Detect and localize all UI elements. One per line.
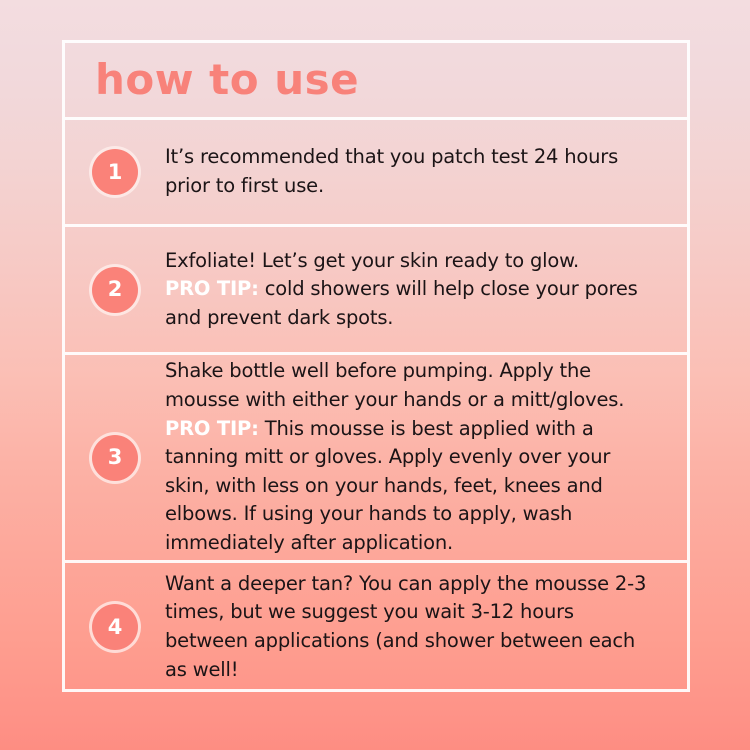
step-line: It’s recommended that you patch test 24 … <box>165 143 657 200</box>
step-number-1: 1 <box>108 162 123 183</box>
step-number-badge-wrap-1: 1 <box>65 149 165 195</box>
step-text-segment: Shake bottle well before pumping. Apply … <box>165 359 624 411</box>
how-to-use-poster: how to use 1 It’s recommended that you p… <box>0 0 750 750</box>
step-text-segment: It’s recommended that you patch test 24 … <box>165 145 618 197</box>
step-number-badge-4: 4 <box>92 604 138 650</box>
step-row-3: 3 Shake bottle well before pumping. Appl… <box>65 355 687 563</box>
step-text-3: Shake bottle well before pumping. Apply … <box>165 357 665 558</box>
pro-tip-label: PRO TIP: <box>165 417 259 440</box>
page-title: how to use <box>95 59 359 101</box>
step-line: PRO TIP: cold showers will help close yo… <box>165 275 657 332</box>
step-number-4: 4 <box>108 617 123 638</box>
step-number-badge-wrap-2: 2 <box>65 267 165 313</box>
step-line: Shake bottle well before pumping. Apply … <box>165 357 657 414</box>
poster-header: how to use <box>65 43 687 120</box>
step-text-2: Exfoliate! Let’s get your skin ready to … <box>165 247 665 333</box>
step-number-2: 2 <box>108 279 123 300</box>
step-number-badge-3: 3 <box>92 435 138 481</box>
step-text-4: Want a deeper tan? You can apply the mou… <box>165 570 665 685</box>
step-line: Want a deeper tan? You can apply the mou… <box>165 570 657 685</box>
instruction-frame: how to use 1 It’s recommended that you p… <box>62 40 690 692</box>
step-line: PRO TIP: This mousse is best applied wit… <box>165 415 657 558</box>
pro-tip-label: PRO TIP: <box>165 277 259 300</box>
step-number-badge-wrap-3: 3 <box>65 435 165 481</box>
step-number-3: 3 <box>108 447 123 468</box>
step-number-badge-2: 2 <box>92 267 138 313</box>
step-number-badge-wrap-4: 4 <box>65 604 165 650</box>
step-text-1: It’s recommended that you patch test 24 … <box>165 143 665 200</box>
step-text-segment: Exfoliate! Let’s get your skin ready to … <box>165 249 579 272</box>
step-text-segment: Want a deeper tan? You can apply the mou… <box>165 572 646 681</box>
step-line: Exfoliate! Let’s get your skin ready to … <box>165 247 657 276</box>
step-row-4: 4 Want a deeper tan? You can apply the m… <box>65 563 687 691</box>
step-row-2: 2 Exfoliate! Let’s get your skin ready t… <box>65 227 687 355</box>
step-row-1: 1 It’s recommended that you patch test 2… <box>65 120 687 227</box>
step-number-badge-1: 1 <box>92 149 138 195</box>
